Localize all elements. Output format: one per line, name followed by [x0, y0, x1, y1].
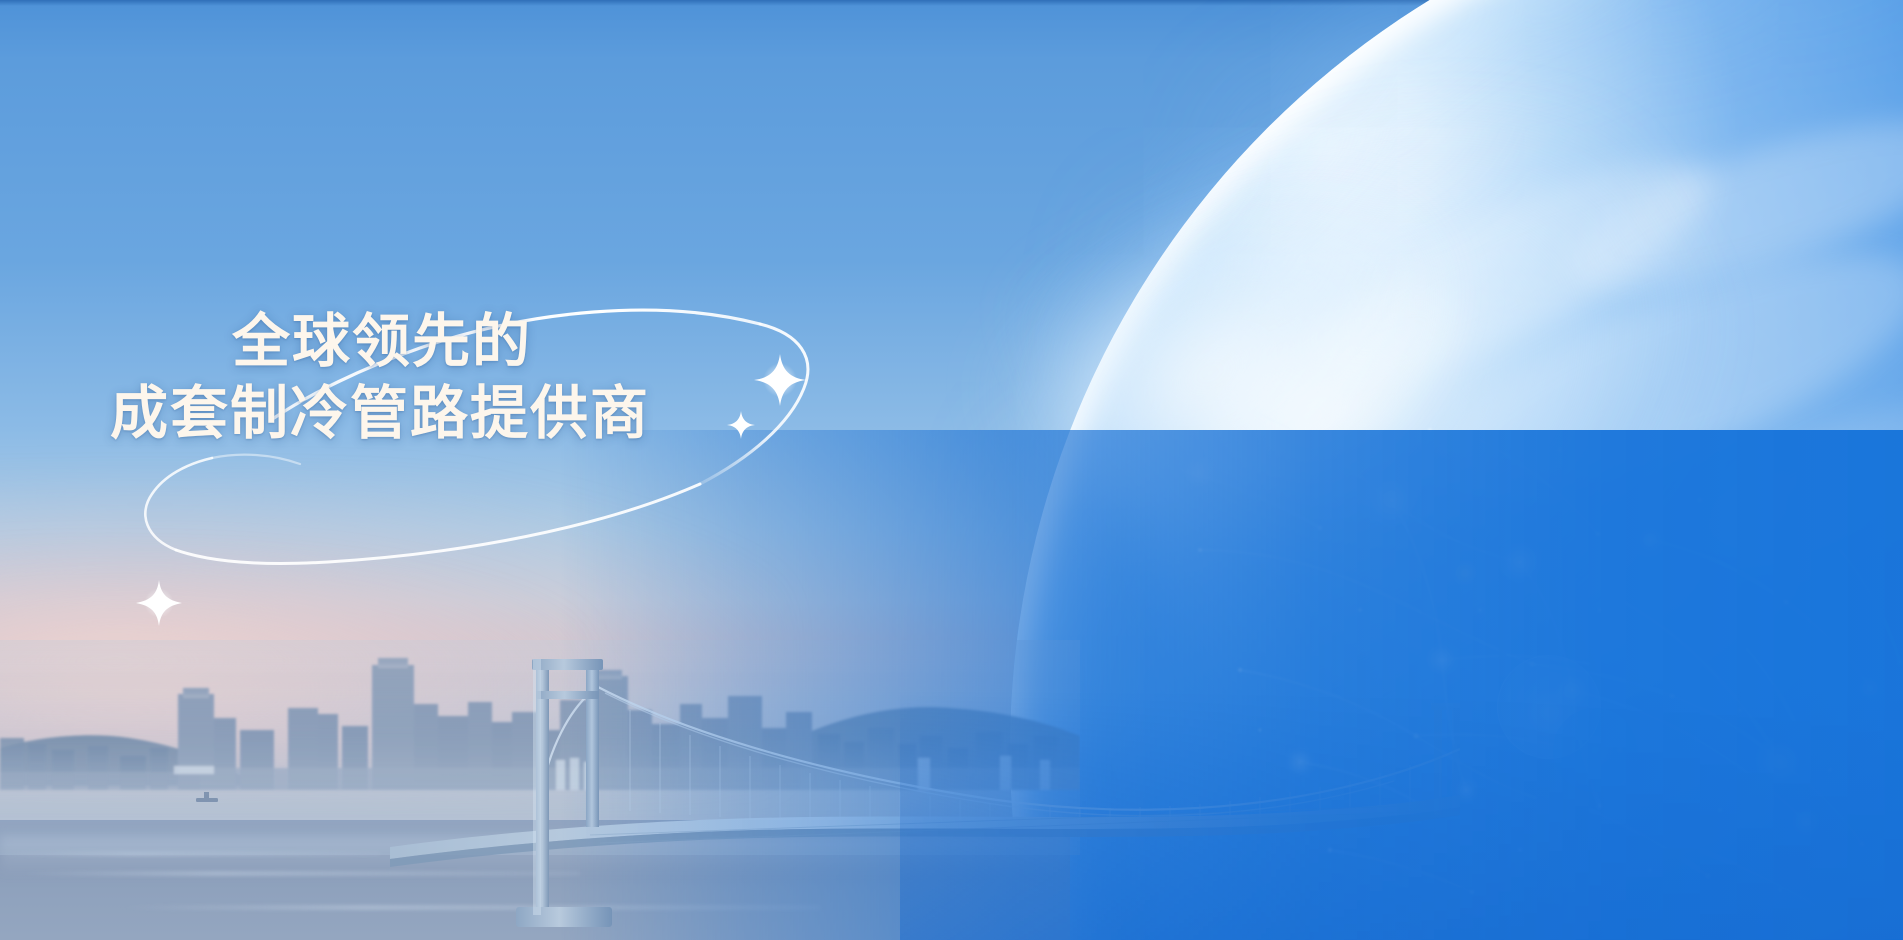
- hero-headline: 全球领先的 成套制冷管路提供商: [110, 306, 830, 450]
- headline-line-2: 成套制冷管路提供商: [110, 378, 830, 450]
- headline-line-1: 全球领先的: [232, 306, 830, 378]
- photo-blue-veil-bottom: [900, 690, 1903, 940]
- hero-banner: 全球领先的 成套制冷管路提供商: [0, 0, 1903, 940]
